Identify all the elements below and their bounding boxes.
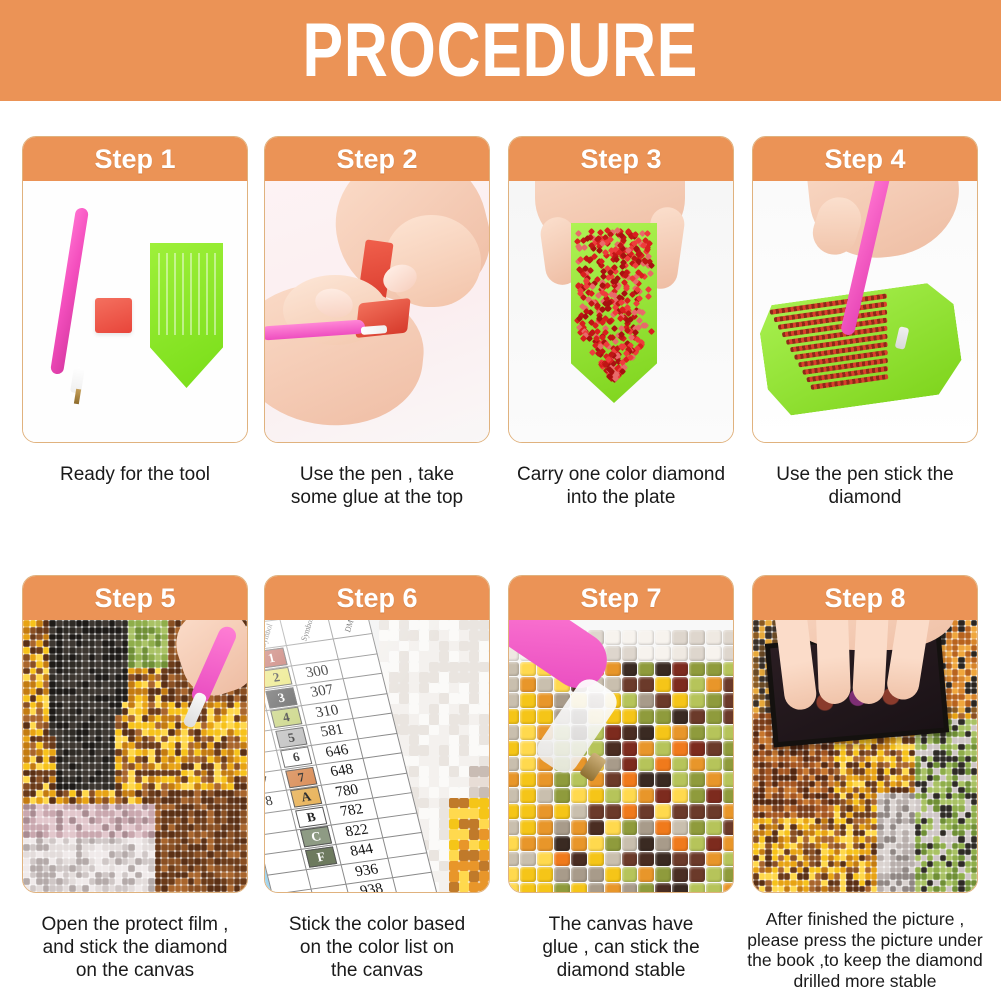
color-chart-sheet: SymbolSymbolDMC1122300333074431055581666… xyxy=(265,620,489,892)
red-diamonds-group xyxy=(575,227,653,387)
step-card-7: Step 7 The canvas have glue , can stick … xyxy=(508,575,734,983)
caption-line: the book ,to keep the diamond xyxy=(734,950,996,971)
pink-pen-icon xyxy=(50,207,89,375)
step-3-photo xyxy=(509,181,733,442)
step-1-caption: Ready for the tool xyxy=(22,463,248,486)
glue-square-icon xyxy=(95,298,132,333)
caption-line: diamond xyxy=(752,486,978,509)
caption-line: Stick the color based xyxy=(264,913,490,936)
step-2-photo xyxy=(265,181,489,442)
caption-line: Use the pen , take xyxy=(264,463,490,486)
step-6-photo: SymbolSymbolDMC1122300333074431055581666… xyxy=(265,620,489,892)
caption-line: Open the protect film , xyxy=(22,913,248,936)
caption-line: and stick the diamond xyxy=(22,936,248,959)
step-3-caption: Carry one color diamond into the plate xyxy=(508,463,734,509)
green-tray-icon xyxy=(150,243,223,388)
step-card-8: Step 8 After finished the picture , plea… xyxy=(752,575,978,992)
step-3-header: Step 3 xyxy=(509,137,733,181)
caption-line: drilled more stable xyxy=(734,971,996,992)
fingers-group xyxy=(779,620,959,722)
step-4-photo xyxy=(753,181,977,442)
step-2-title: Step 2 xyxy=(336,146,417,173)
page-title: PROCEDURE xyxy=(303,13,699,89)
step-4-card-frame: Step 4 xyxy=(752,136,978,443)
step-6-title: Step 6 xyxy=(336,585,417,612)
step-7-card-frame: Step 7 xyxy=(508,575,734,893)
step-5-title: Step 5 xyxy=(94,585,175,612)
caption-line: Carry one color diamond xyxy=(508,463,734,486)
caption-line: on the canvas xyxy=(22,959,248,982)
step-8-photo xyxy=(753,620,977,892)
chart-cell-index xyxy=(267,869,311,892)
caption-line: Ready for the tool xyxy=(22,463,248,486)
step-card-5: Step 5 Open the protect film , and stick… xyxy=(22,575,248,983)
step-6-caption: Stick the color based on the color list … xyxy=(264,913,490,983)
step-2-card-frame: Step 2 xyxy=(264,136,490,443)
step-5-card-frame: Step 5 xyxy=(22,575,248,893)
step-6-card-frame: Step 6 SymbolSymbolDMC112230033307443105… xyxy=(264,575,490,893)
caption-line: Use the pen stick the xyxy=(752,463,978,486)
step-7-photo xyxy=(509,620,733,892)
step-5-photo xyxy=(23,620,247,892)
caption-line: glue , can stick the xyxy=(508,936,734,959)
caption-line: some glue at the top xyxy=(264,486,490,509)
steps-grid: Step 1 Ready for the tool Step 2 xyxy=(0,101,1001,1001)
step-card-3: Step 3 Carry one color diamond into the … xyxy=(508,136,734,509)
step-card-6: Step 6 SymbolSymbolDMC112230033307443105… xyxy=(264,575,490,983)
step-3-card-frame: Step 3 xyxy=(508,136,734,443)
step-7-header: Step 7 xyxy=(509,576,733,620)
step-card-2: Step 2 Use the pen , take some glue at t… xyxy=(264,136,490,509)
step-7-caption: The canvas have glue , can stick the dia… xyxy=(508,913,734,983)
step-7-title: Step 7 xyxy=(580,585,661,612)
page-header-banner: PROCEDURE xyxy=(0,0,1001,101)
caption-line: into the plate xyxy=(508,486,734,509)
step-5-caption: Open the protect film , and stick the di… xyxy=(22,913,248,983)
caption-line: please press the picture under xyxy=(734,930,996,951)
step-4-caption: Use the pen stick the diamond xyxy=(752,463,978,509)
caption-line: After finished the picture , xyxy=(734,909,996,930)
step-8-card-frame: Step 8 xyxy=(752,575,978,893)
caption-line: the canvas xyxy=(264,959,490,982)
step-1-photo xyxy=(23,181,247,442)
step-4-title: Step 4 xyxy=(824,146,905,173)
color-chart-table: SymbolSymbolDMC1122300333074431055581666… xyxy=(265,620,447,892)
step-5-header: Step 5 xyxy=(23,576,247,620)
step-2-header: Step 2 xyxy=(265,137,489,181)
step-1-header: Step 1 xyxy=(23,137,247,181)
step-card-4: Step 4 Use the pen stick the diamond xyxy=(752,136,978,509)
step-1-title: Step 1 xyxy=(94,146,175,173)
step-2-caption: Use the pen , take some glue at the top xyxy=(264,463,490,509)
hand-icon xyxy=(385,215,481,307)
step-4-header: Step 4 xyxy=(753,137,977,181)
step-6-header: Step 6 xyxy=(265,576,489,620)
step-3-title: Step 3 xyxy=(580,146,661,173)
step-1-card-frame: Step 1 xyxy=(22,136,248,443)
step-8-title: Step 8 xyxy=(824,585,905,612)
step-card-1: Step 1 Ready for the tool xyxy=(22,136,248,486)
caption-line: on the color list on xyxy=(264,936,490,959)
caption-line: diamond stable xyxy=(508,959,734,982)
caption-line: The canvas have xyxy=(508,913,734,936)
step-8-caption: After finished the picture , please pres… xyxy=(734,909,996,992)
pen-nib-icon xyxy=(74,389,81,405)
step-8-header: Step 8 xyxy=(753,576,977,620)
